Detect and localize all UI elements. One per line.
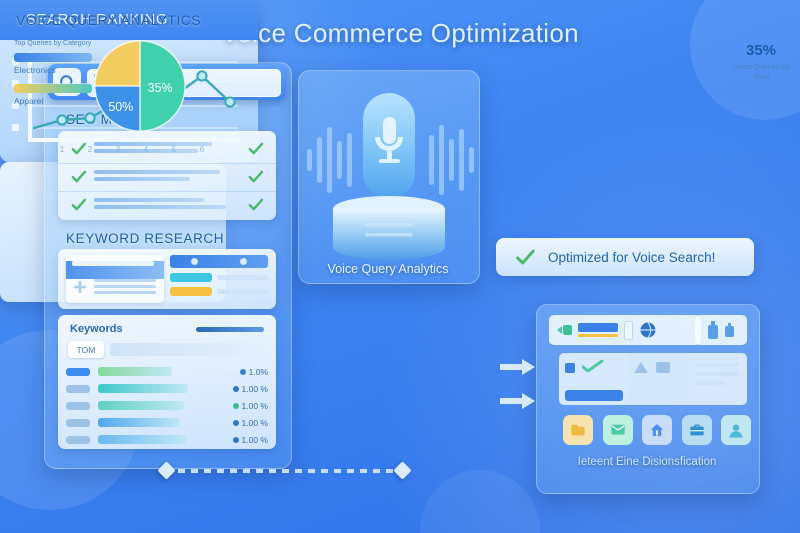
dashed-line (178, 469, 410, 473)
user-icon[interactable] (721, 415, 751, 445)
keyword-tag (66, 368, 90, 376)
green-tag-icon[interactable] (556, 324, 572, 336)
keyword-tag (66, 436, 90, 444)
home-icon[interactable] (642, 415, 672, 445)
keyword-row[interactable]: 1.00 % (66, 431, 268, 448)
box-icon (656, 362, 670, 373)
seo-metric-row[interactable] (58, 191, 276, 219)
keywords-title: Keywords (70, 323, 123, 335)
vqa-heading: VOICE QUERY ANALYTICS (16, 12, 201, 28)
keyword-research-heading: KEYWORD RESEARCH (66, 231, 224, 246)
vqa-stat: 35% Voice Queries vs Total (728, 42, 794, 82)
keyword-value-group: 1.00 % (233, 401, 268, 411)
check-icon (247, 168, 264, 185)
svg-text:4: 4 (144, 145, 149, 154)
mini-card-lines (94, 279, 156, 297)
pie-label-35: 35% (148, 81, 173, 95)
keyword-row[interactable]: 1.0% (66, 363, 268, 380)
svg-text:6: 6 (200, 145, 205, 154)
keyword-row[interactable]: 1.00 % (66, 397, 268, 414)
status-dot (233, 437, 239, 443)
connector-line (160, 462, 420, 480)
waveform-bar (347, 133, 352, 187)
connector-node (157, 461, 175, 479)
waveform-bar (469, 147, 474, 173)
legend-caption: Top Queries by Category (14, 40, 92, 47)
status-dot (233, 403, 239, 409)
vqa-stat-value: 35% (728, 42, 794, 59)
bottle-small-icon[interactable] (725, 323, 734, 337)
keyword-row[interactable]: 1.00 % (66, 380, 268, 397)
bokeh-decoration (420, 470, 540, 533)
mini-card-toolbar (170, 255, 268, 268)
flow-arrow-icon (500, 358, 536, 376)
legend-label-apparel: Apparel (14, 96, 92, 106)
flow-arrow-icon (500, 392, 536, 410)
icon-panel-content-card (559, 353, 747, 405)
keyword-mini-card-left[interactable] (66, 255, 164, 303)
check-icon (70, 168, 87, 185)
check-icon (514, 246, 536, 268)
screenshot-root: Voice Commerce Optimization SEO METRICS … (0, 0, 800, 533)
check-icon (247, 196, 264, 213)
waveform-bar (439, 125, 444, 195)
keywords-row-list: 1.0%1.00 %1.00 %1.00 %1.00 % (66, 363, 268, 448)
keyword-tag (66, 419, 90, 427)
keywords-table: Keywords TOM 1.0%1.00 %1.00 %1.00 %1.00 … (58, 315, 276, 449)
keyword-value: 1.00 % (242, 435, 268, 445)
icon-panel-toolbar[interactable] (549, 315, 701, 345)
folder-icon[interactable] (563, 415, 593, 445)
keyword-tag (66, 385, 90, 393)
metric-bars (94, 170, 226, 184)
content-bar (565, 390, 623, 401)
keyword-tag (66, 402, 90, 410)
keyword-bar (98, 384, 188, 393)
keyword-value: 1.0% (249, 367, 268, 377)
briefcase-icon[interactable] (682, 415, 712, 445)
waveform-bar (317, 137, 322, 183)
plus-icon[interactable] (72, 279, 88, 295)
metric-bars (94, 198, 226, 212)
legend-bar-apparel (14, 84, 92, 93)
legend-label-electronics: Electronics (14, 65, 92, 75)
pie-label-50: 50% (108, 100, 133, 114)
pie-chart-svg: 35% 50% (92, 38, 188, 134)
legend-bar-electronics (14, 53, 92, 62)
square-icon (565, 363, 575, 373)
voice-panel-caption: Voice Query Analytics (298, 262, 478, 276)
bottle-large-icon[interactable] (708, 321, 718, 339)
status-dot (233, 420, 239, 426)
keyword-mini-card-right[interactable] (170, 255, 268, 303)
keyword-value-group: 1.00 % (233, 435, 268, 445)
mini-card-row (170, 287, 268, 296)
check-mark-icon (582, 360, 604, 372)
keyword-bar (98, 367, 172, 376)
content-block-image (629, 353, 687, 405)
status-dot (233, 386, 239, 392)
waveform-bar (459, 129, 464, 191)
narrow-panel-icon[interactable] (624, 321, 633, 340)
svg-text:2: 2 (88, 145, 93, 154)
svg-text:1: 1 (60, 145, 65, 154)
waveform-bar (307, 149, 312, 171)
seo-metric-row[interactable] (58, 163, 276, 192)
keyword-value-group: 1.0% (240, 367, 268, 377)
status-dot (240, 369, 246, 375)
keyword-value-group: 1.00 % (233, 418, 268, 428)
waveform-bar (327, 127, 332, 193)
waveform-bar (337, 141, 342, 179)
tom-progress-bar (110, 343, 266, 356)
pie-chart: 35% 50% (92, 38, 188, 134)
keyword-row[interactable]: 1.00 % (66, 414, 268, 431)
vqa-stat-label: Voice Queries vs Total (728, 62, 794, 82)
vqa-legend: Top Queries by Category Electronics Appa… (14, 40, 92, 115)
keyword-value: 1.00 % (242, 384, 268, 394)
connector-node (393, 461, 411, 479)
keyword-value-group: 1.00 % (233, 384, 268, 394)
tom-chip[interactable]: TOM (68, 341, 104, 358)
keyword-research-card (58, 249, 276, 309)
keyword-bar (98, 401, 184, 410)
keyword-value: 1.00 % (242, 401, 268, 411)
icon-panel-toolbar-secondary[interactable] (695, 315, 747, 345)
globe-icon[interactable] (639, 321, 657, 339)
waveform-bar (429, 135, 434, 185)
triangle-icon (634, 362, 648, 373)
waveform-bar (449, 139, 454, 181)
svg-text:5: 5 (172, 145, 177, 154)
keyword-bar (98, 418, 180, 427)
message-icon[interactable] (603, 415, 633, 445)
optimized-badge-text: Optimized for Voice Search! (548, 250, 715, 265)
voice-device-panel (298, 70, 480, 284)
svg-text:3: 3 (116, 145, 121, 154)
content-block-text (687, 353, 747, 405)
app-icon-row (559, 411, 755, 449)
keywords-accent-bar (196, 327, 264, 332)
icon-panel-caption: Ieteent Eine Disionsfication (536, 456, 758, 468)
blue-bar-icon[interactable] (578, 323, 618, 337)
keyword-value: 1.00 % (242, 418, 268, 428)
mini-card-row (170, 273, 268, 282)
content-block-primary (559, 353, 629, 405)
optimized-badge: Optimized for Voice Search! (496, 238, 754, 276)
mini-card-header (66, 261, 164, 279)
keyword-bar (98, 435, 186, 444)
check-icon (70, 196, 87, 213)
